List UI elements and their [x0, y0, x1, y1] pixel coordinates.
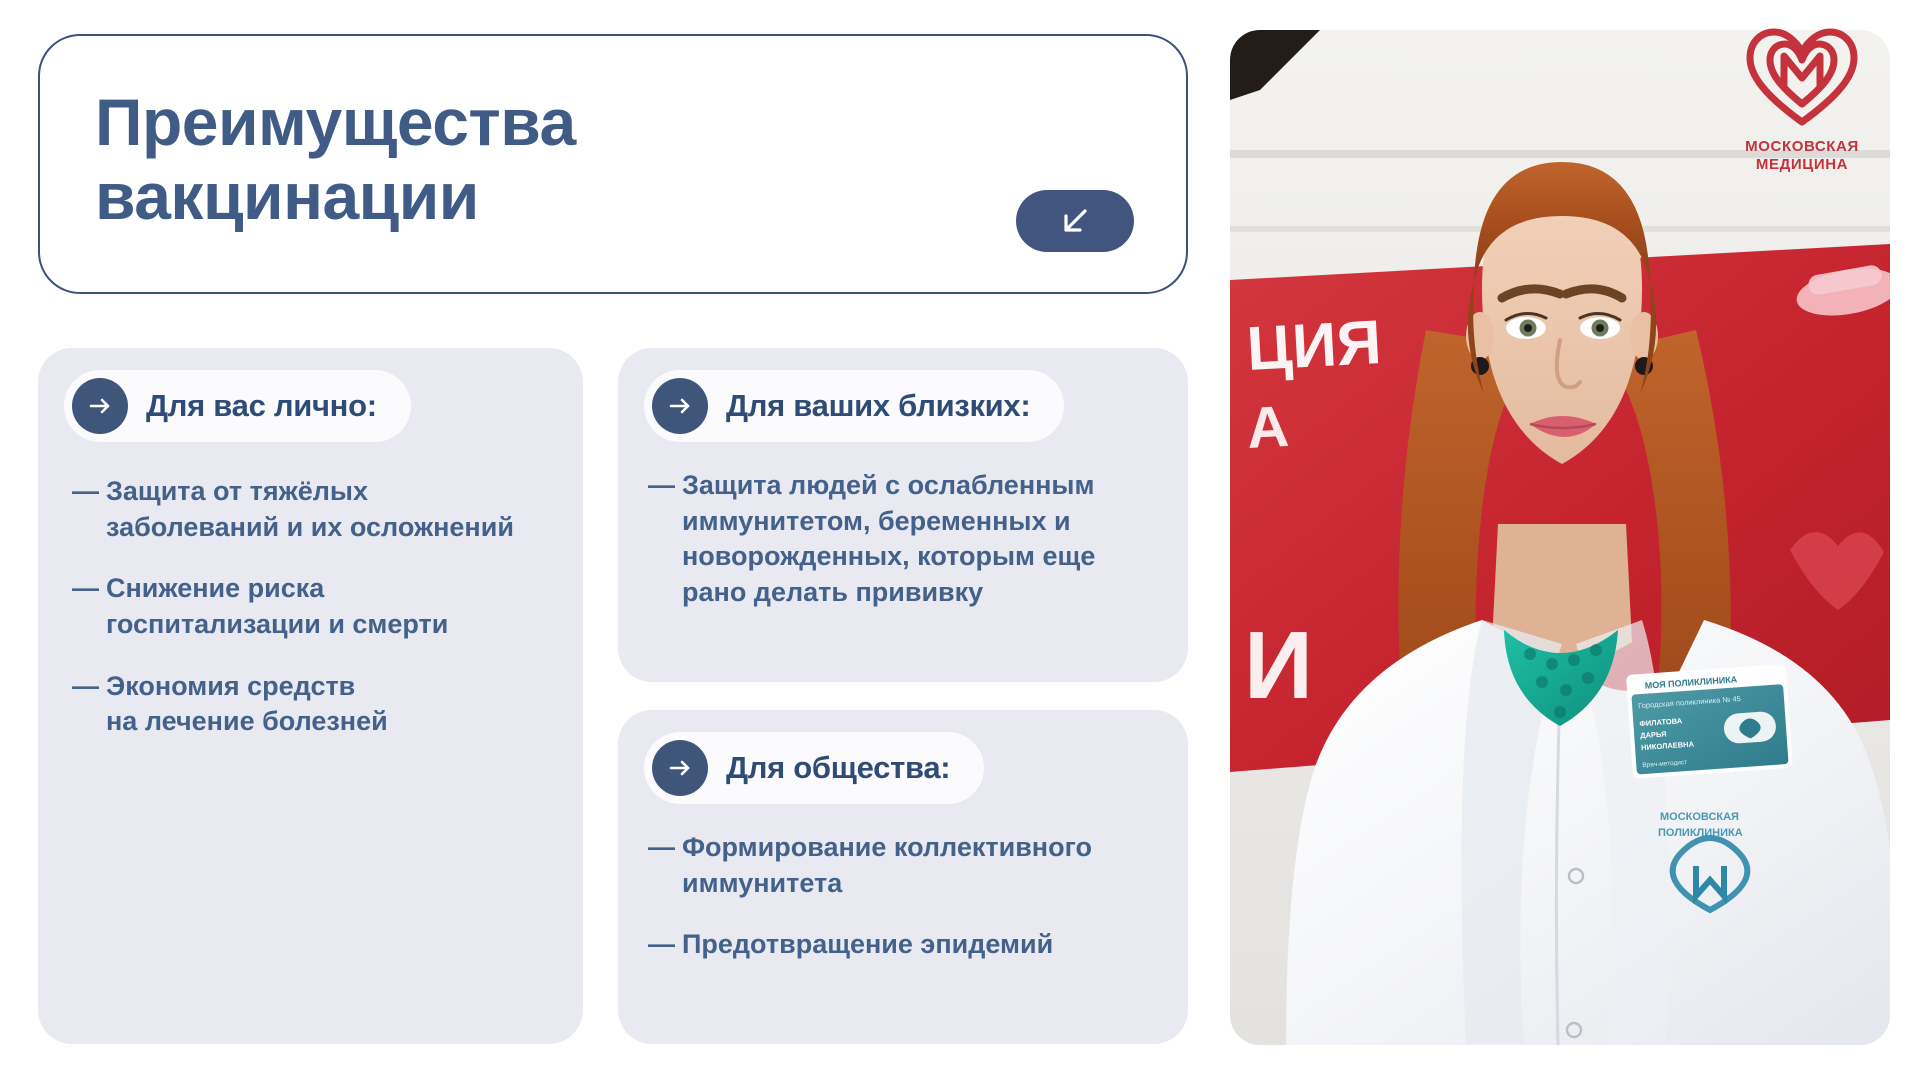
- list-item: — Защита от тяжёлых заболеваний и их осл…: [72, 474, 561, 545]
- brand-logo-text: МОСКОВСКАЯ МЕДИЦИНА: [1727, 138, 1877, 175]
- page-title: Преимущества вакцинации: [95, 86, 576, 234]
- svg-text:И: И: [1244, 612, 1313, 719]
- card-relatives-header: Для ваших близких:: [644, 370, 1064, 442]
- card-society-header: Для общества:: [644, 732, 984, 804]
- bullet-marker: —: [648, 468, 682, 504]
- list-item: — Предотвращение эпидемий: [648, 927, 1166, 963]
- card-personal-title: Для вас лично:: [146, 388, 377, 424]
- svg-text:А: А: [1245, 394, 1290, 461]
- doctor-photo-illustration: ЦИЯ А И: [1230, 30, 1890, 1045]
- list-item-text: Снижение риска госпитализации и смерти: [106, 571, 448, 642]
- svg-text:МОСКОВСКАЯ: МОСКОВСКАЯ: [1660, 811, 1739, 823]
- list-item: — Снижение риска госпитализации и смерти: [72, 571, 561, 642]
- card-society-title: Для общества:: [726, 750, 950, 786]
- list-item: — Формирование коллективного иммунитета: [648, 830, 1166, 901]
- arrow-right-circle-icon: [72, 378, 128, 434]
- svg-text:ДАРЬЯ: ДАРЬЯ: [1640, 729, 1667, 740]
- list-item-text: Предотвращение эпидемий: [682, 927, 1053, 963]
- arrow-right-circle-icon: [652, 378, 708, 434]
- card-relatives: Для ваших близких: — Защита людей с осла…: [618, 348, 1188, 682]
- bullet-marker: —: [72, 669, 106, 705]
- list-item-text: Защита людей с ослабленным иммунитетом, …: [682, 468, 1095, 611]
- arrow-right-circle-icon: [652, 740, 708, 796]
- brand-logo: МОСКОВСКАЯ МЕДИЦИНА: [1727, 26, 1877, 175]
- list-item: — Защита людей с ослабленным иммунитетом…: [648, 468, 1166, 611]
- bullet-marker: —: [72, 571, 106, 607]
- heart-with-m-icon: [1744, 26, 1860, 130]
- card-relatives-list: — Защита людей с ослабленным иммунитетом…: [648, 468, 1166, 637]
- slide-root: Преимущества вакцинации: [0, 0, 1919, 1080]
- left-column: Преимущества вакцинации: [38, 34, 1188, 1044]
- card-personal: Для вас лично: — Защита от тяжёлых забол…: [38, 348, 583, 1044]
- list-item-text: Защита от тяжёлых заболеваний и их ослож…: [106, 474, 514, 545]
- card-society: Для общества: — Формирование коллективно…: [618, 710, 1188, 1044]
- svg-text:ЦИЯ: ЦИЯ: [1245, 308, 1383, 384]
- card-personal-list: — Защита от тяжёлых заболеваний и их осл…: [72, 474, 561, 766]
- card-personal-header: Для вас лично:: [64, 370, 411, 442]
- list-item-text: Формирование коллективного иммунитета: [682, 830, 1092, 901]
- title-card: Преимущества вакцинации: [38, 34, 1188, 294]
- bullet-marker: —: [72, 474, 106, 510]
- bullet-marker: —: [648, 927, 682, 963]
- list-item-text: Экономия средств на лечение болезней: [106, 669, 388, 740]
- arrow-down-left-icon: [1055, 201, 1095, 241]
- bullet-marker: —: [648, 830, 682, 866]
- list-item: — Экономия средств на лечение болезней: [72, 669, 561, 740]
- card-relatives-title: Для ваших близких:: [726, 388, 1030, 424]
- card-society-list: — Формирование коллективного иммунитета …: [648, 830, 1166, 989]
- doctor-photo: ЦИЯ А И: [1230, 30, 1890, 1045]
- scroll-down-button[interactable]: [1016, 190, 1134, 252]
